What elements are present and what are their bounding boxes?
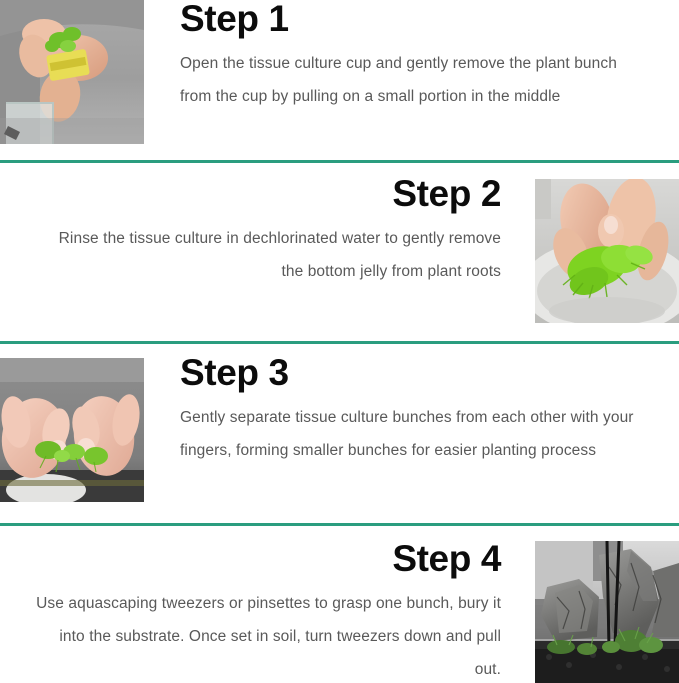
step-2-title: Step 2 <box>36 175 501 213</box>
step-section-1: Step 1 Open the tissue culture cup and g… <box>0 0 679 160</box>
step-2-text-block: Step 2 Rinse the tissue culture in dechl… <box>0 163 535 288</box>
step-3-text-block: Step 3 Gently separate tissue culture bu… <box>144 344 679 467</box>
step-3-body: Gently separate tissue culture bunches f… <box>180 401 643 468</box>
step-4-text-block: Step 4 Use aquascaping tweezers or pinse… <box>0 526 535 683</box>
hands-rinsing-green-plant-in-bowl-image <box>535 179 679 323</box>
step-1-body: Open the tissue culture cup and gently r… <box>180 47 643 114</box>
step-4-title: Step 4 <box>36 540 501 578</box>
step-4-photo <box>535 541 679 683</box>
person-opening-tissue-culture-cup-image <box>0 0 144 144</box>
step-3-photo <box>0 358 144 502</box>
step-3-title: Step 3 <box>180 354 643 392</box>
step-4-body: Use aquascaping tweezers or pinsettes to… <box>36 587 501 683</box>
aquascape-rocks-with-tweezers-planting-image <box>535 541 679 683</box>
step-1-photo <box>0 0 144 144</box>
step-2-photo <box>535 179 679 323</box>
step-1-text-block: Step 1 Open the tissue culture cup and g… <box>144 0 679 113</box>
step-1-title: Step 1 <box>180 0 643 38</box>
step-section-2: Step 2 Rinse the tissue culture in dechl… <box>0 163 679 341</box>
step-2-body: Rinse the tissue culture in dechlorinate… <box>36 222 501 289</box>
step-section-3: Step 3 Gently separate tissue culture bu… <box>0 344 679 523</box>
step-section-4: Step 4 Use aquascaping tweezers or pinse… <box>0 526 679 683</box>
hands-separating-plant-bunches-image <box>0 358 144 502</box>
step-by-step-infographic: Step 1 Open the tissue culture cup and g… <box>0 0 679 683</box>
